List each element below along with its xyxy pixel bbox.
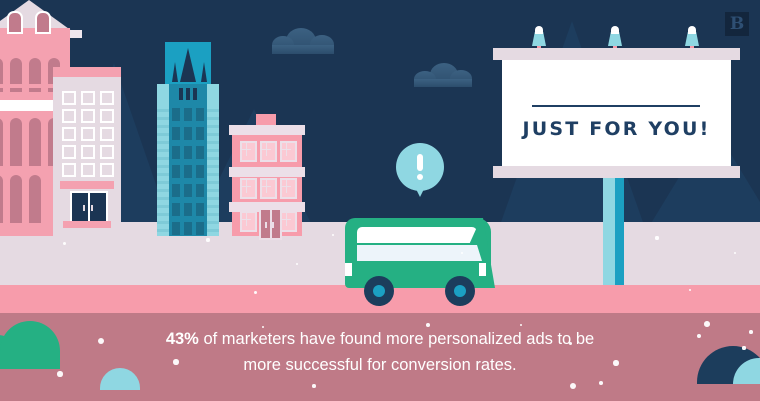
bus-side-notch bbox=[345, 263, 352, 276]
door-knob bbox=[272, 222, 274, 228]
billboard-pole-dark bbox=[615, 178, 624, 285]
bus-wheel bbox=[445, 276, 475, 306]
bus-upper-window bbox=[357, 227, 477, 243]
apartment-window bbox=[81, 163, 95, 177]
townhouse-window bbox=[280, 178, 297, 199]
teal-crown-slit bbox=[186, 88, 190, 100]
lamp-bulb bbox=[535, 26, 543, 34]
lamp-bulb bbox=[611, 26, 619, 34]
tower-window bbox=[172, 146, 180, 159]
tower-window bbox=[184, 146, 192, 159]
decorative-speck bbox=[697, 334, 701, 338]
apartment-window bbox=[62, 145, 76, 159]
bubble-tail bbox=[414, 185, 426, 197]
tower-window bbox=[172, 203, 180, 216]
tower-window bbox=[196, 184, 204, 197]
tower-window bbox=[172, 165, 180, 178]
dormer-window bbox=[7, 11, 23, 34]
floor-band bbox=[229, 167, 305, 177]
cloud-left bbox=[272, 28, 334, 54]
arched-window bbox=[0, 118, 3, 166]
apartment-window bbox=[100, 145, 114, 159]
tower-window bbox=[172, 222, 180, 235]
billboard-divider-rule bbox=[532, 105, 700, 107]
townhouse-window bbox=[240, 211, 257, 232]
arched-window bbox=[29, 58, 41, 84]
lavender-apartment-building bbox=[53, 67, 121, 236]
townhouse-door bbox=[259, 208, 282, 240]
bush-lobe bbox=[0, 321, 60, 369]
decorative-speck bbox=[312, 384, 316, 388]
tower-window bbox=[184, 165, 192, 178]
lamp-shade bbox=[608, 32, 622, 46]
billboard-bottom-frame bbox=[493, 166, 740, 178]
townhouse-window bbox=[260, 178, 277, 199]
apartment-window bbox=[81, 109, 95, 123]
lavender-door-band bbox=[60, 181, 114, 189]
decorative-speck bbox=[704, 321, 710, 327]
window-sill bbox=[29, 88, 41, 92]
apartment-window bbox=[81, 127, 95, 141]
apartment-window bbox=[62, 109, 76, 123]
billboard-top-frame bbox=[493, 48, 740, 60]
tower-window bbox=[196, 165, 204, 178]
door-knob bbox=[91, 205, 93, 211]
decorative-speck bbox=[570, 383, 576, 389]
bus-wheel bbox=[364, 276, 394, 306]
apartment-window bbox=[62, 91, 76, 105]
tower-window bbox=[196, 203, 204, 216]
teal-mini-spire bbox=[172, 62, 178, 82]
teal-spire bbox=[180, 48, 196, 82]
apartment-window bbox=[81, 145, 95, 159]
wheel-hub bbox=[454, 285, 466, 297]
teal-skyscraper bbox=[157, 42, 219, 236]
tower-window bbox=[196, 108, 204, 121]
infographic-scene: JUST FOR YOU! 43% of marketers have foun… bbox=[0, 0, 760, 401]
apartment-window bbox=[62, 127, 76, 141]
tower-window bbox=[196, 127, 204, 140]
door-divider bbox=[88, 193, 90, 223]
bus-lower-window bbox=[357, 245, 482, 261]
arched-window bbox=[0, 175, 3, 223]
cloud-right bbox=[414, 63, 472, 87]
lamp-shade bbox=[685, 32, 699, 46]
billboard-face bbox=[502, 60, 731, 166]
arched-window bbox=[0, 58, 3, 84]
decorative-speck bbox=[206, 238, 209, 241]
townhouse-window bbox=[240, 141, 257, 162]
teal-crown-slit bbox=[193, 88, 197, 100]
teal-crown-slit bbox=[179, 88, 183, 100]
billboard-pole-light bbox=[603, 178, 615, 285]
exclamation-dot bbox=[417, 174, 423, 180]
teal-mini-spire bbox=[201, 62, 207, 82]
decorative-speck bbox=[254, 291, 257, 294]
cornice-band bbox=[229, 125, 305, 135]
wheel-hub bbox=[373, 285, 385, 297]
apartment-window bbox=[100, 109, 114, 123]
tower-window bbox=[184, 184, 192, 197]
arched-window bbox=[10, 175, 22, 223]
townhouse-window bbox=[280, 141, 297, 162]
arched-window bbox=[29, 118, 41, 166]
townhouse-window bbox=[240, 178, 257, 199]
pink-townhouse bbox=[232, 114, 302, 236]
caption-line-1: 43% of marketers have found more persona… bbox=[166, 330, 594, 348]
window-sill bbox=[10, 88, 22, 92]
exclamation-bar bbox=[417, 154, 423, 171]
door-knob bbox=[265, 222, 267, 228]
arched-window bbox=[10, 118, 22, 166]
alert-speech-bubble-icon[interactable] bbox=[396, 143, 444, 198]
tower-window bbox=[172, 127, 180, 140]
apartment-window bbox=[100, 91, 114, 105]
lavender-entrance-door bbox=[70, 191, 108, 225]
window-sill bbox=[0, 88, 3, 92]
green-bush-left bbox=[0, 321, 60, 369]
tower-window bbox=[172, 184, 180, 197]
lamp-shade bbox=[532, 32, 546, 46]
green-bus bbox=[345, 218, 495, 300]
caption-line-2: more successful for conversion rates. bbox=[243, 356, 516, 374]
tower-window bbox=[172, 108, 180, 121]
caption-text: 43% of marketers have found more persona… bbox=[70, 326, 690, 378]
apartment-window bbox=[100, 163, 114, 177]
tower-window bbox=[184, 222, 192, 235]
dormer-window bbox=[35, 11, 51, 34]
billboard-headline: JUST FOR YOU! bbox=[493, 118, 740, 140]
bus-side-notch bbox=[479, 263, 486, 276]
decorative-speck bbox=[63, 242, 66, 245]
tower-window bbox=[196, 146, 204, 159]
apartment-window bbox=[81, 91, 95, 105]
decorative-speck bbox=[57, 371, 62, 376]
tower-window bbox=[196, 222, 204, 235]
arched-window bbox=[29, 175, 41, 223]
tower-window bbox=[184, 108, 192, 121]
townhouse-window bbox=[280, 211, 297, 232]
lamp-bulb bbox=[688, 26, 696, 34]
decorative-speck bbox=[749, 330, 753, 334]
billboard[interactable]: JUST FOR YOU! bbox=[493, 48, 740, 178]
brand-logo[interactable]: B bbox=[725, 12, 749, 36]
tower-window bbox=[184, 203, 192, 216]
decorative-speck bbox=[599, 381, 603, 385]
apartment-window bbox=[100, 127, 114, 141]
townhouse-window bbox=[260, 141, 277, 162]
caption-stat: 43% bbox=[166, 330, 199, 348]
door-knob bbox=[83, 205, 85, 211]
caption-line-1-rest: of marketers have found more personalize… bbox=[199, 330, 594, 348]
decorative-speck bbox=[655, 236, 658, 239]
arched-window bbox=[10, 58, 22, 84]
lavender-entry-step bbox=[63, 221, 111, 228]
tower-window bbox=[184, 127, 192, 140]
decorative-speck bbox=[742, 346, 745, 349]
apartment-window bbox=[62, 163, 76, 177]
